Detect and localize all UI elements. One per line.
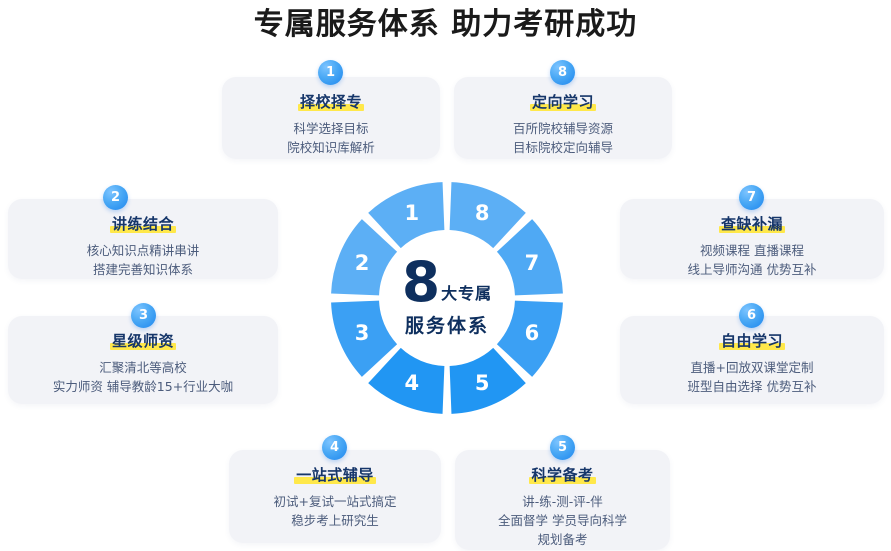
card-body: 讲-练-测-评-伴 全面督学 学员导向科学 规划备考	[455, 492, 670, 549]
card-body: 视频课程 直播课程 线上导师沟通 优势互补	[620, 241, 884, 279]
card-badge-4: 4	[322, 435, 347, 460]
feature-card-8[interactable]: 定向学习 百所院校辅导资源 目标院校定向辅导	[454, 77, 672, 159]
card-title: 科学备考	[531, 464, 593, 485]
donut-svg	[331, 182, 563, 414]
card-badge-5: 5	[550, 435, 575, 460]
card-line: 班型自由选择 优势互补	[620, 377, 884, 396]
card-line: 目标院校定向辅导	[454, 138, 672, 157]
card-body: 核心知识点精讲串讲 搭建完善知识体系	[8, 241, 278, 279]
card-title: 查缺补漏	[721, 213, 783, 234]
card-line: 直播+回放双课堂定制	[620, 358, 884, 377]
feature-card-5[interactable]: 科学备考 讲-练-测-评-伴 全面督学 学员导向科学 规划备考	[455, 450, 670, 550]
feature-card-3[interactable]: 星级师资 汇聚清北等高校 实力师资 辅导教龄15+行业大咖	[8, 316, 278, 404]
card-title-wrap: 讲练结合	[112, 213, 174, 234]
card-badge-3: 3	[131, 303, 156, 328]
card-line: 视频课程 直播课程	[620, 241, 884, 260]
infographic-stage: 专属服务体系 助力考研成功 87654321 8 大专属 服务体系 择校择专 科…	[0, 0, 891, 551]
card-title: 讲练结合	[112, 213, 174, 234]
card-title: 一站式辅导	[296, 464, 374, 485]
card-title-wrap: 星级师资	[112, 330, 174, 351]
card-title: 择校择专	[300, 91, 362, 112]
card-badge-8: 8	[550, 60, 575, 85]
feature-card-6[interactable]: 自由学习 直播+回放双课堂定制 班型自由选择 优势互补	[620, 316, 884, 404]
card-line: 搭建完善知识体系	[8, 260, 278, 279]
donut-chart: 87654321	[331, 182, 563, 414]
card-title-wrap: 科学备考	[531, 464, 593, 485]
card-title: 自由学习	[721, 330, 783, 351]
card-badge-1: 1	[318, 60, 343, 85]
feature-card-2[interactable]: 讲练结合 核心知识点精讲串讲 搭建完善知识体系	[8, 199, 278, 279]
card-line: 稳步考上研究生	[229, 511, 441, 530]
card-line: 实力师资 辅导教龄15+行业大咖	[8, 377, 278, 396]
card-body: 科学选择目标 院校知识库解析	[222, 119, 440, 157]
card-title: 定向学习	[532, 91, 594, 112]
card-body: 百所院校辅导资源 目标院校定向辅导	[454, 119, 672, 157]
card-line: 百所院校辅导资源	[454, 119, 672, 138]
card-line: 科学选择目标	[222, 119, 440, 138]
card-title-wrap: 自由学习	[721, 330, 783, 351]
page-title: 专属服务体系 助力考研成功	[0, 4, 891, 46]
feature-card-7[interactable]: 查缺补漏 视频课程 直播课程 线上导师沟通 优势互补	[620, 199, 884, 279]
card-line: 规划备考	[455, 530, 670, 549]
card-body: 直播+回放双课堂定制 班型自由选择 优势互补	[620, 358, 884, 396]
card-line: 全面督学 学员导向科学	[455, 511, 670, 530]
card-badge-7: 7	[739, 185, 764, 210]
card-line: 汇聚清北等高校	[8, 358, 278, 377]
card-title-wrap: 一站式辅导	[296, 464, 374, 485]
card-title-wrap: 定向学习	[532, 91, 594, 112]
card-line: 核心知识点精讲串讲	[8, 241, 278, 260]
card-body: 初试+复试一站式搞定 稳步考上研究生	[229, 492, 441, 530]
card-line: 线上导师沟通 优势互补	[620, 260, 884, 279]
card-title: 星级师资	[112, 330, 174, 351]
card-line: 讲-练-测-评-伴	[455, 492, 670, 511]
card-badge-6: 6	[739, 303, 764, 328]
card-title-wrap: 查缺补漏	[721, 213, 783, 234]
card-line: 院校知识库解析	[222, 138, 440, 157]
card-badge-2: 2	[103, 185, 128, 210]
card-body: 汇聚清北等高校 实力师资 辅导教龄15+行业大咖	[8, 358, 278, 396]
feature-card-1[interactable]: 择校择专 科学选择目标 院校知识库解析	[222, 77, 440, 159]
card-title-wrap: 择校择专	[300, 91, 362, 112]
feature-card-4[interactable]: 一站式辅导 初试+复试一站式搞定 稳步考上研究生	[229, 450, 441, 543]
card-line: 初试+复试一站式搞定	[229, 492, 441, 511]
